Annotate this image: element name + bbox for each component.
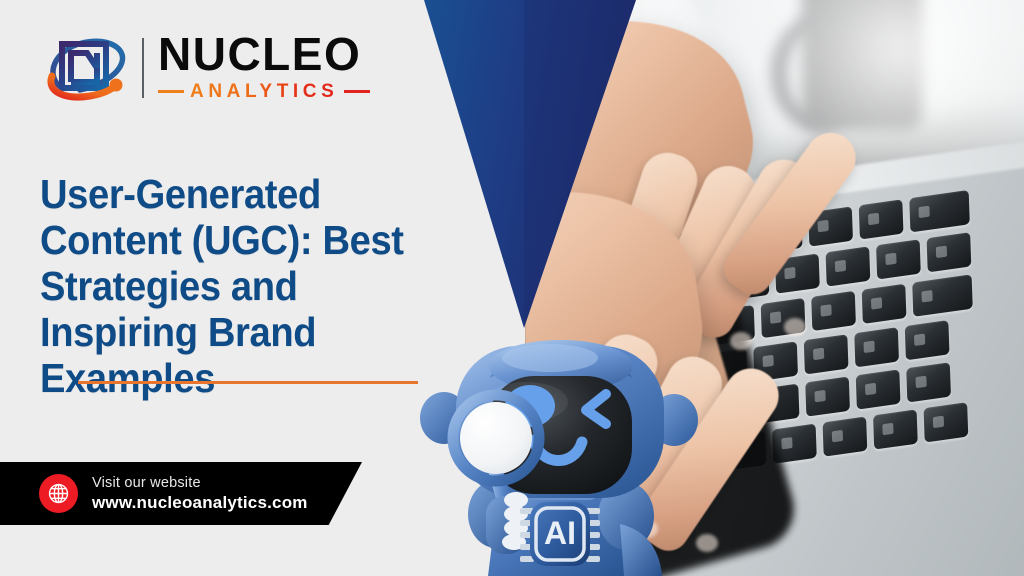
ai-chip-badge: AI xyxy=(520,502,600,566)
logo-divider xyxy=(142,38,144,98)
logo-dash-left xyxy=(158,90,184,93)
globe-icon xyxy=(39,474,78,513)
banner-url: www.nucleoanalytics.com xyxy=(92,493,308,512)
poster-canvas: NUCLEO ANALYTICS User-Generated Content … xyxy=(0,0,1024,576)
title-underline-rule xyxy=(78,381,418,384)
ai-chip-label: AI xyxy=(544,515,576,551)
nucleo-atom-logo-icon xyxy=(40,32,132,104)
brand-name: NUCLEO xyxy=(158,33,370,77)
brand-tagline: ANALYTICS xyxy=(190,81,338,103)
page-title: User-Generated Content (UGC): Best Strat… xyxy=(40,172,440,402)
robot-helmet-highlight xyxy=(502,344,598,372)
logo-dash-right xyxy=(344,90,370,93)
brand-logo[interactable]: NUCLEO ANALYTICS xyxy=(40,32,370,104)
website-banner[interactable]: Visit our website www.nucleoanalytics.co… xyxy=(0,462,362,525)
banner-label: Visit our website xyxy=(92,475,308,491)
ai-robot-mascot: AI xyxy=(410,318,710,576)
